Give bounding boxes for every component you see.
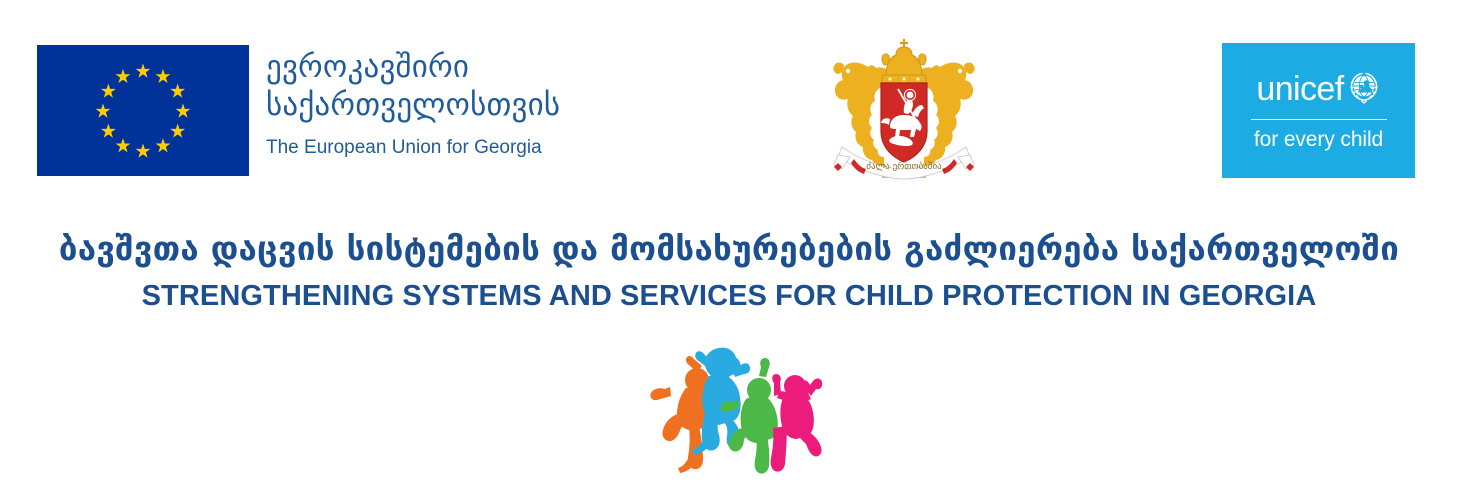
european-union-logo: ევროკავშირი საქართველოსთვის The European… xyxy=(37,45,560,176)
title-english: STRENGTHENING SYSTEMS AND SERVICES FOR C… xyxy=(0,279,1458,313)
unicef-globe-emblem-icon xyxy=(1347,70,1381,108)
eu-flag-icon xyxy=(37,45,249,176)
eu-logo-text: ევროკავშირი საქართველოსთვის The European… xyxy=(266,45,560,159)
unicef-tagline: for every child xyxy=(1254,128,1383,152)
eu-text-line1-ka: ევროკავშირი xyxy=(266,48,560,86)
eu-text-line2-ka: საქართველოსთვის xyxy=(266,86,560,124)
pink-child-figure xyxy=(771,374,823,472)
eu-text-line3-en: The European Union for Georgia xyxy=(266,137,560,159)
title-georgian: ბავშვთა დაცვის სისტემების და მომსახურებე… xyxy=(0,228,1458,270)
poster-page: ევროკავშირი საქართველოსთვის The European… xyxy=(0,0,1458,488)
unicef-wordmark: unicef xyxy=(1256,72,1343,106)
jumping-children-illustration xyxy=(645,342,835,476)
coat-of-arms-motto: ძალა ერთობაშია xyxy=(866,161,942,172)
title-block: ბავშვთა დაცვის სისტემების და მომსახურებე… xyxy=(0,228,1458,313)
unicef-logo: unicef xyxy=(1222,43,1415,178)
unicef-wordmark-row: unicef xyxy=(1256,69,1380,109)
georgia-coat-of-arms-icon: ძალა ერთობაშია xyxy=(824,35,984,180)
logo-band: ევროკავშირი საქართველოსთვის The European… xyxy=(0,0,1458,200)
unicef-divider xyxy=(1251,119,1387,121)
orange-child-figure xyxy=(650,356,713,473)
